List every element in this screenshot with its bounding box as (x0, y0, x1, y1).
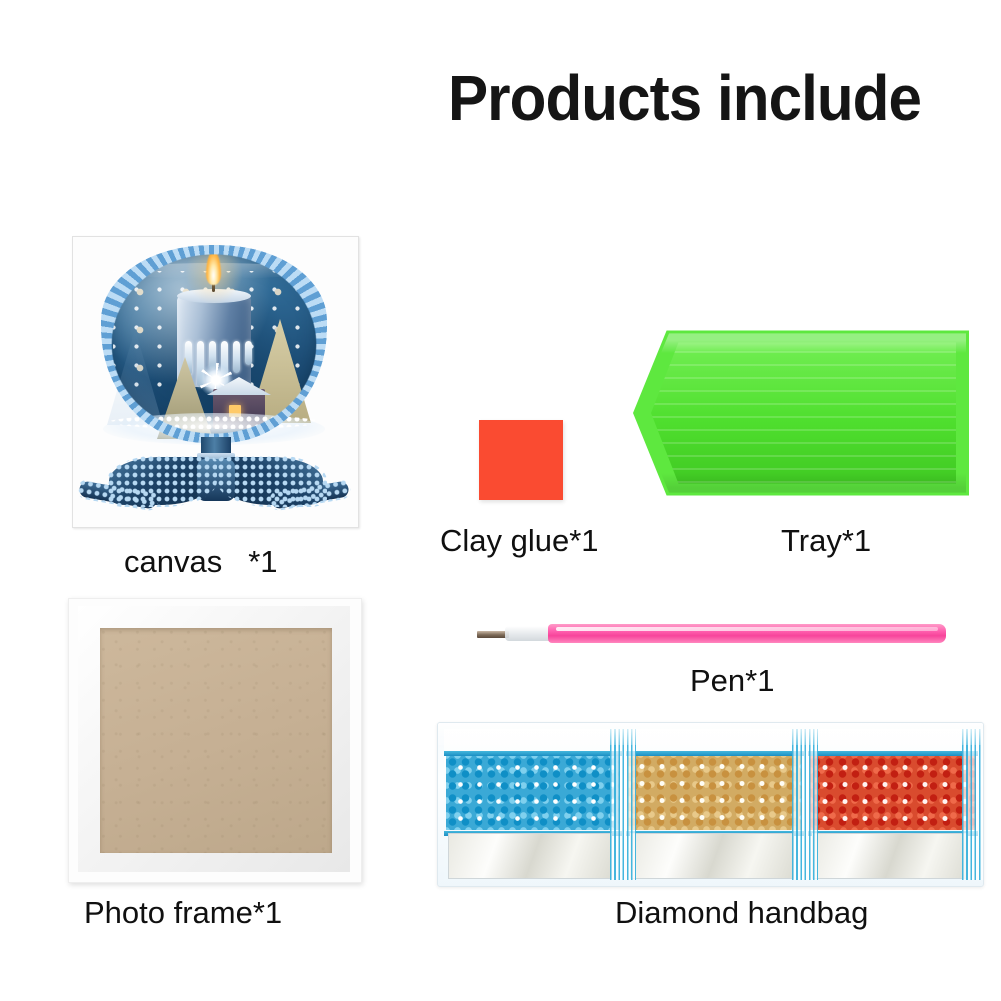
pen-highlight (556, 627, 938, 631)
packet-foil-label (812, 833, 968, 879)
product-inclusions-board: Products include (0, 0, 1001, 1001)
clay-glue-product-image (479, 420, 563, 500)
tray-label: Tray*1 (781, 525, 871, 556)
packet-edge-ribs (962, 729, 984, 880)
tray-lip-highlight (636, 330, 966, 496)
drill-packet-gold (626, 729, 804, 880)
rhinestones-red (810, 756, 976, 830)
canvas-artwork (73, 237, 358, 527)
diamond-handbag-product-image (437, 722, 984, 887)
rhinestones-blue (446, 756, 620, 830)
rhinestones-gold (628, 756, 802, 830)
photo-frame-label: Photo frame*1 (84, 897, 282, 928)
canvas-label-qty: *1 (248, 544, 277, 579)
packet-foil-label (630, 833, 794, 879)
page-title: Products include (448, 66, 960, 130)
canvas-product-image (72, 236, 359, 528)
canvas-label-text: canvas (124, 544, 222, 579)
clay-glue-label: Clay glue*1 (440, 525, 599, 556)
outer-bag-sheen (438, 723, 983, 745)
photo-frame-backing-board (100, 628, 332, 853)
canvas-label: canvas*1 (124, 546, 278, 577)
packet-edge-ribs (792, 729, 818, 880)
packet-foil-label (448, 833, 612, 879)
drill-packet-red (808, 729, 978, 880)
pen-label: Pen*1 (690, 665, 774, 696)
packet-edge-ribs (610, 729, 636, 880)
drill-packet-blue (444, 729, 622, 880)
diamond-handbag-label: Diamond handbag (615, 897, 868, 928)
